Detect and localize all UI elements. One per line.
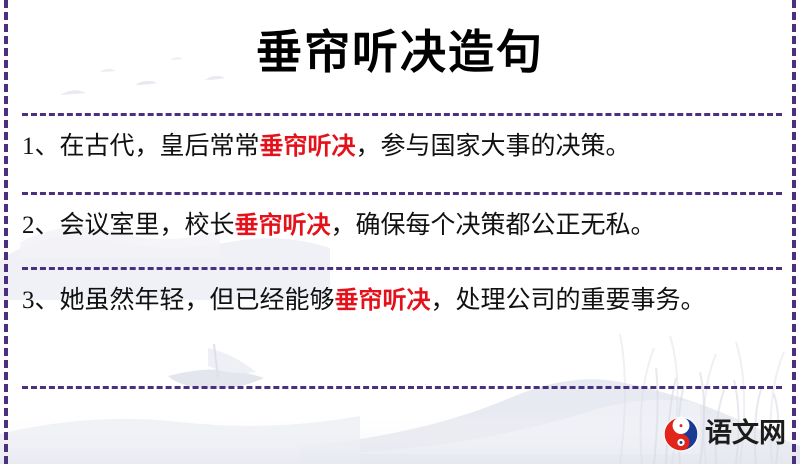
sentence-1-after: ，参与国家大事的决策。 (356, 133, 631, 160)
sentence-2-keyword: 垂帘听决 (235, 211, 331, 239)
divider-rule-2 (22, 192, 782, 195)
sentence-item-3: 3、她虽然年轻，但已经能够垂帘听决，处理公司的重要事务。 (22, 280, 742, 321)
page-title: 垂帘听决造句 (0, 24, 800, 80)
divider-rule-4 (22, 386, 782, 389)
sentence-3-keyword: 垂帘听决 (335, 286, 431, 314)
sentence-3-before: 3、她虽然年轻，但已经能够 (22, 287, 335, 314)
sentence-1-before: 1、在古代，皇后常常 (22, 133, 260, 160)
sentence-1-keyword: 垂帘听决 (260, 132, 356, 160)
sentence-3-after: ，处理公司的重要事务。 (431, 287, 706, 314)
divider-rule-1 (22, 113, 782, 116)
sentence-2-after: ，确保每个决策都公正无私。 (331, 212, 656, 239)
sentence-2-before: 2、会议室里，校长 (22, 212, 235, 239)
sentence-item-1: 1、在古代，皇后常常垂帘听决，参与国家大事的决策。 (22, 126, 631, 167)
poster-canvas: 垂帘听决造句 1、在古代，皇后常常垂帘听决，参与国家大事的决策。 2、会议室里，… (0, 0, 800, 464)
yinyang-logo-icon (663, 416, 699, 452)
site-logo-text: 语文网 (705, 419, 786, 449)
divider-rule-3 (22, 267, 782, 270)
sentence-item-2: 2、会议室里，校长垂帘听决，确保每个决策都公正无私。 (22, 205, 656, 246)
site-logo[interactable]: 语文网 (663, 416, 786, 452)
